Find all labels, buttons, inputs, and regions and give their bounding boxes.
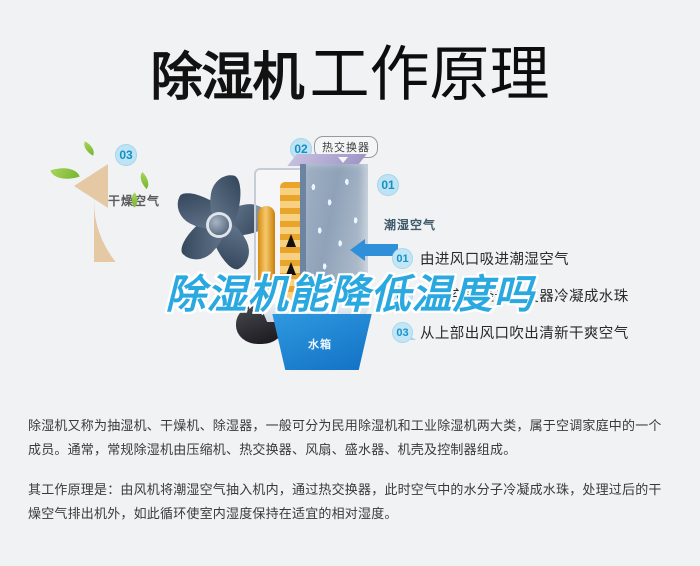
fan-hub [209, 215, 229, 235]
compressor-cylinder [258, 206, 275, 290]
step-list: 01 由进风口吸进潮湿空气 02 潮湿空气经过蒸发器冷凝成水珠 03 从上部出风… [392, 248, 692, 359]
diagram-badge-03: 03 [115, 144, 137, 166]
step-text-02: 潮湿空气经过蒸发器冷凝成水珠 [420, 285, 629, 306]
heat-exchanger-block [300, 164, 368, 292]
list-item: 03 从上部出风口吹出清新干爽空气 [392, 322, 692, 343]
infographic-page: 除湿机工作原理 干燥空气 03 02 01 热交换器 潮湿空气 [0, 0, 700, 566]
flow-arrow-icon [286, 262, 296, 275]
step-text-01: 由进风口吸进潮湿空气 [420, 248, 569, 269]
page-title-part1: 除湿机 [150, 49, 303, 107]
step-badge-01: 01 [392, 248, 413, 269]
leaf-icon [81, 141, 98, 156]
article-body: 除湿机又称为抽湿机、干燥机、除湿器，一般可分为民用除湿机和工业除湿机两大类，属于… [28, 414, 674, 542]
list-item: 01 由进风口吸进潮湿空气 [392, 248, 692, 269]
water-tank-label: 水箱 [308, 336, 332, 352]
flow-arrow-icon [286, 234, 296, 247]
step-badge-02: 02 [392, 285, 413, 306]
page-title: 除湿机工作原理 [0, 26, 700, 113]
step-badge-03: 03 [392, 322, 413, 343]
list-item: 02 潮湿空气经过蒸发器冷凝成水珠 [392, 285, 692, 306]
paragraph-1: 除湿机又称为抽湿机、干燥机、除湿器，一般可分为民用除湿机和工业除湿机两大类，属于… [28, 414, 674, 462]
page-title-part2: 工作原理 [310, 41, 550, 108]
step-text-03: 从上部出风口吹出清新干爽空气 [420, 322, 629, 343]
paragraph-2: 其工作原理是：由风机将潮湿空气抽入机内，通过热交换器，此时空气中的水分子冷凝成水… [28, 478, 674, 526]
